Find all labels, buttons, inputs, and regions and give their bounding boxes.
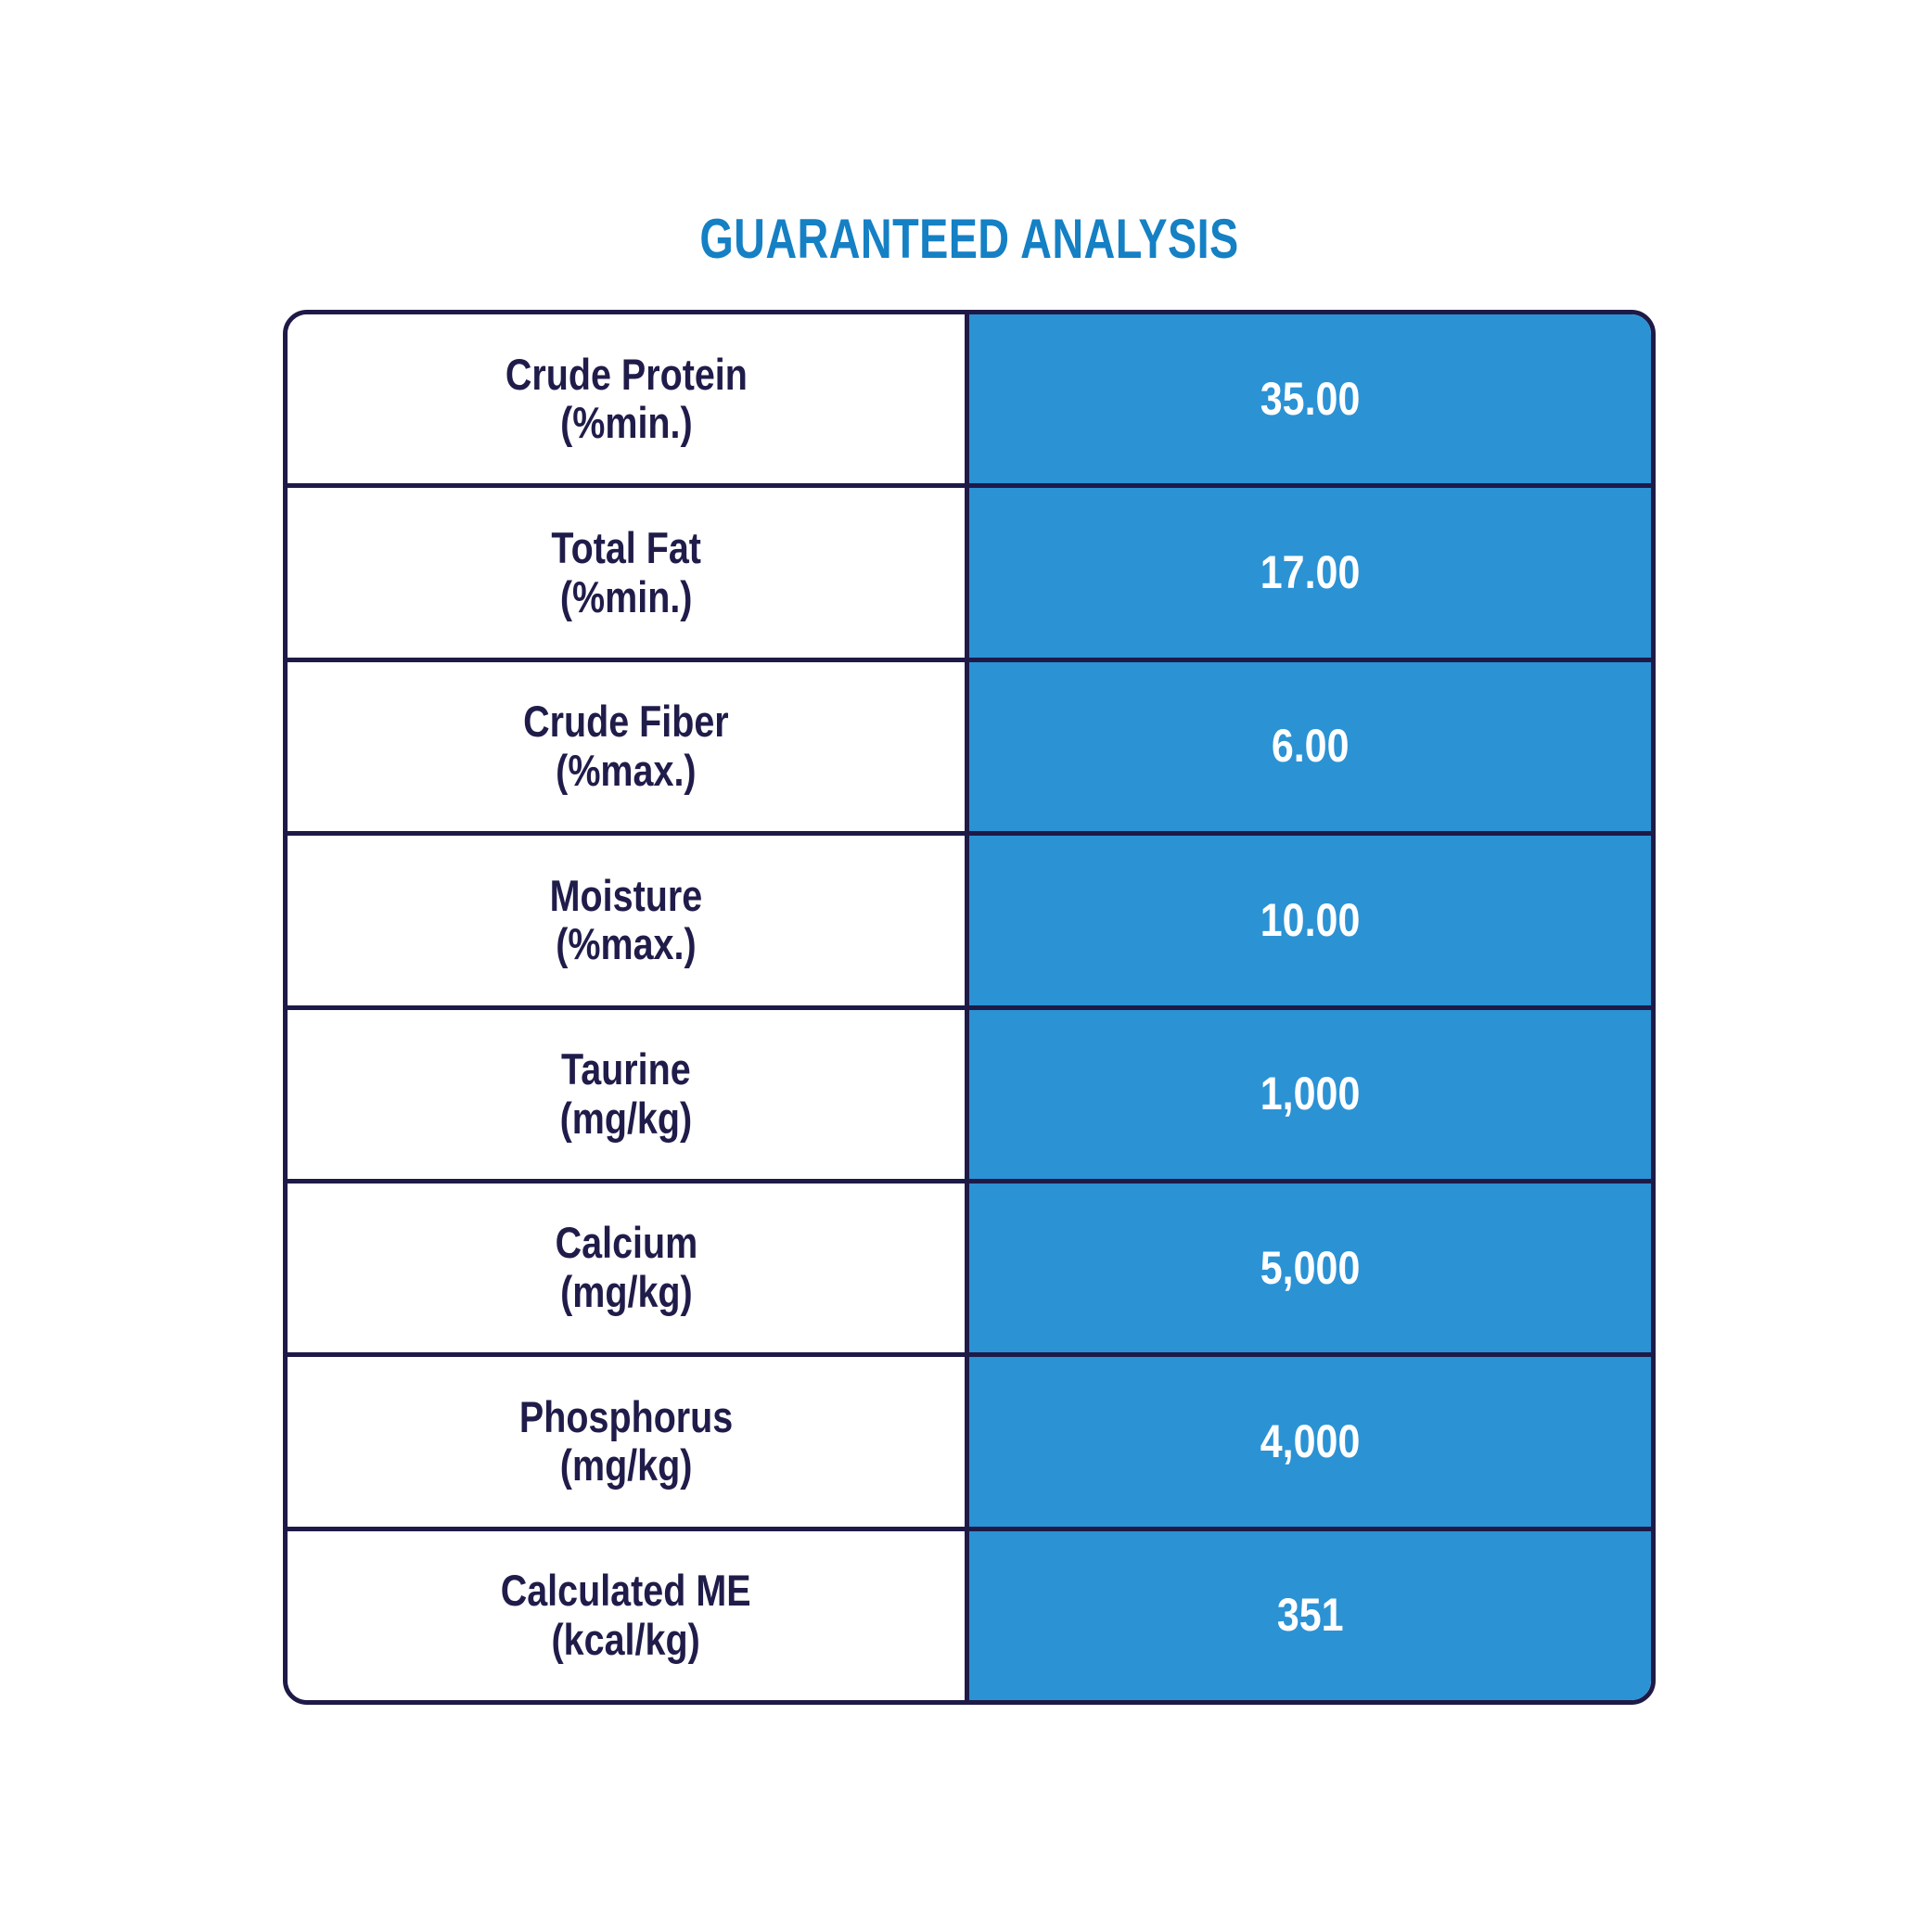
nutrient-label-cell: Calcium (mg/kg): [288, 1184, 969, 1352]
table-row: Phosphorus (mg/kg) 4,000: [288, 1357, 1651, 1530]
table-row: Moisture (%max.) 10.00: [288, 836, 1651, 1009]
nutrient-label-cell: Crude Protein (%min.): [288, 314, 969, 483]
nutrient-value-cell: 351: [969, 1531, 1651, 1700]
nutrient-value: 17.00: [1260, 547, 1361, 598]
nutrient-value-cell: 4,000: [969, 1357, 1651, 1526]
nutrient-label-cell: Moisture (%max.): [288, 836, 969, 1004]
nutrient-value: 5,000: [1260, 1243, 1361, 1294]
table-row: Total Fat (%min.) 17.00: [288, 488, 1651, 661]
table-row: Calcium (mg/kg) 5,000: [288, 1184, 1651, 1357]
nutrient-label: Moisture (%max.): [550, 872, 703, 969]
nutrient-value: 35.00: [1260, 374, 1361, 425]
nutrient-label-cell: Phosphorus (mg/kg): [288, 1357, 969, 1526]
nutrient-label-cell: Taurine (mg/kg): [288, 1010, 969, 1179]
nutrient-value-cell: 5,000: [969, 1184, 1651, 1352]
nutrient-label: Calculated ME (kcal/kg): [501, 1567, 751, 1664]
nutrient-label: Crude Fiber (%max.): [523, 697, 729, 795]
guaranteed-analysis-table: Crude Protein (%min.) 35.00 Total Fat (%…: [283, 310, 1656, 1705]
nutrient-value-cell: 35.00: [969, 314, 1651, 483]
nutrient-label: Crude Protein (%min.): [505, 351, 747, 448]
nutrient-value: 6.00: [1272, 721, 1350, 772]
table-row: Taurine (mg/kg) 1,000: [288, 1010, 1651, 1184]
table-row: Crude Fiber (%max.) 6.00: [288, 662, 1651, 836]
nutrient-value-cell: 10.00: [969, 836, 1651, 1004]
nutrient-label-cell: Calculated ME (kcal/kg): [288, 1531, 969, 1700]
nutrient-label-cell: Crude Fiber (%max.): [288, 662, 969, 831]
nutrient-label: Total Fat (%min.): [551, 524, 701, 621]
nutrient-label: Phosphorus (mg/kg): [519, 1393, 733, 1491]
nutrient-value: 4,000: [1260, 1416, 1361, 1467]
nutrient-value: 10.00: [1260, 895, 1361, 946]
nutrient-value: 1,000: [1260, 1068, 1361, 1120]
guaranteed-analysis-panel: GUARANTEED ANALYSIS Crude Protein (%min.…: [0, 0, 1932, 1932]
table-row: Crude Protein (%min.) 35.00: [288, 314, 1651, 488]
nutrient-value: 351: [1277, 1590, 1344, 1641]
page-title: GUARANTEED ANALYSIS: [434, 210, 1504, 269]
nutrient-value-cell: 6.00: [969, 662, 1651, 831]
nutrient-label-cell: Total Fat (%min.): [288, 488, 969, 657]
nutrient-label: Calcium (mg/kg): [555, 1219, 697, 1316]
table-row: Calculated ME (kcal/kg) 351: [288, 1531, 1651, 1700]
nutrient-label: Taurine (mg/kg): [560, 1045, 693, 1143]
nutrient-value-cell: 17.00: [969, 488, 1651, 657]
nutrient-value-cell: 1,000: [969, 1010, 1651, 1179]
